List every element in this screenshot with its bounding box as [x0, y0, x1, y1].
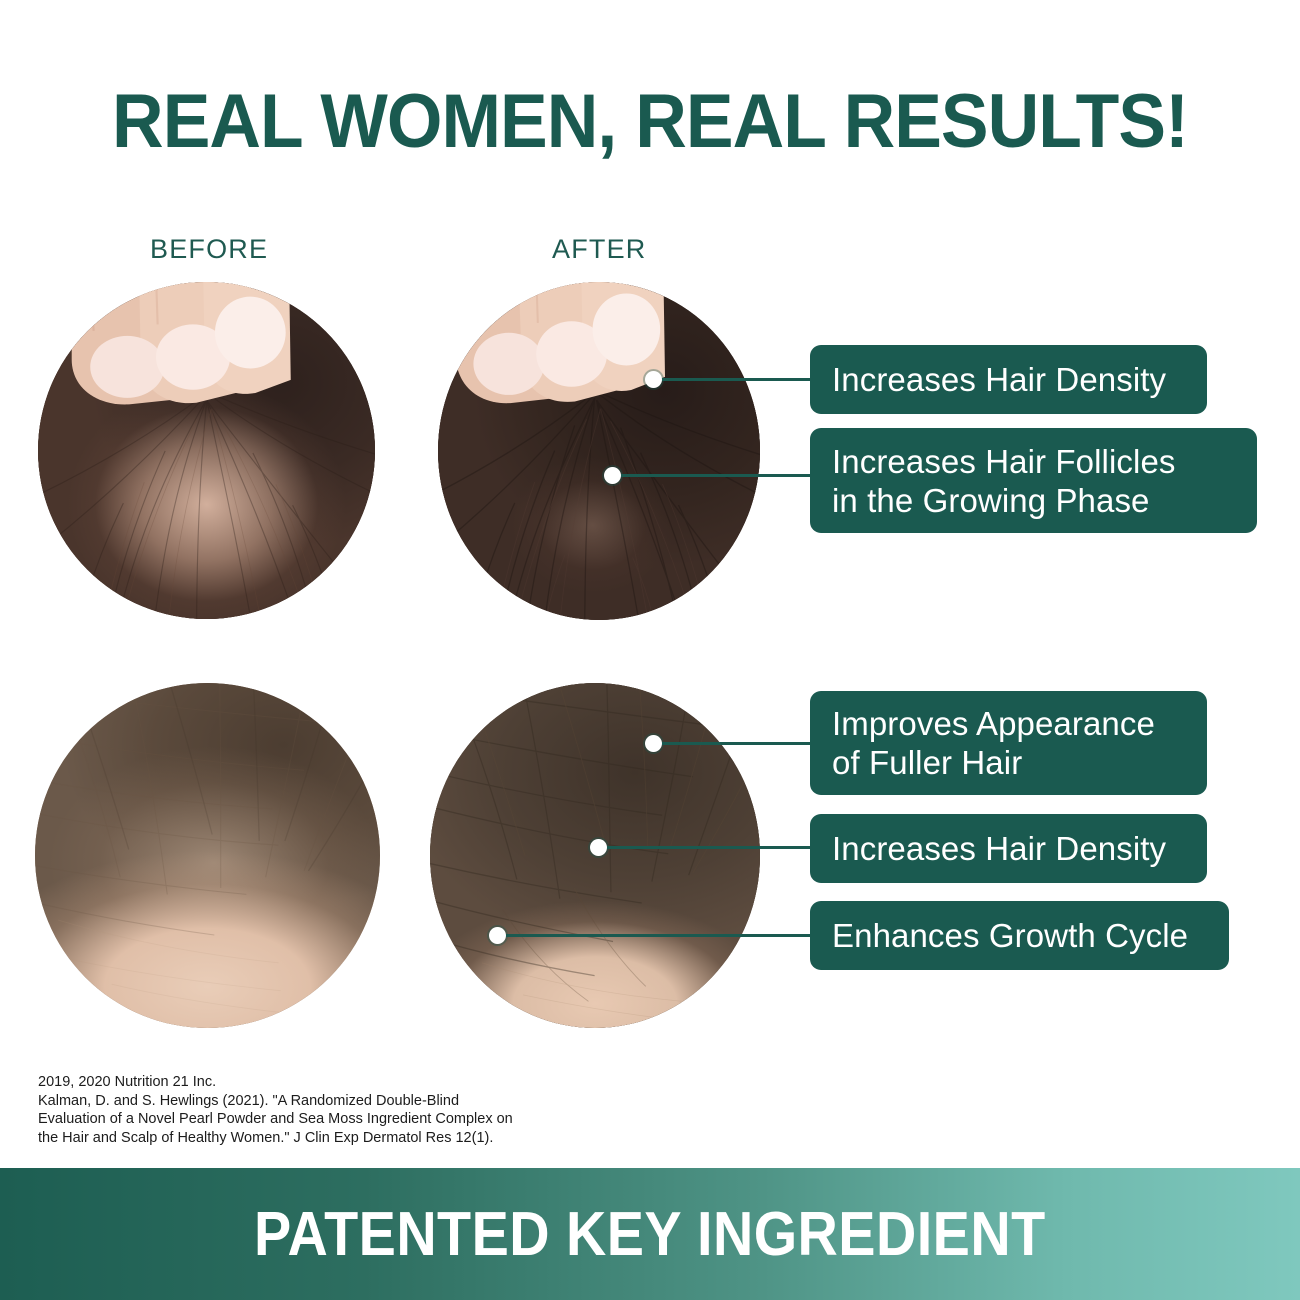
leader-dot-4	[590, 839, 607, 856]
leader-line-4	[601, 846, 812, 849]
leader-dot-1	[645, 371, 662, 388]
callout-improves-appearance-fuller-hair: Improves Appearance of Fuller Hair	[810, 691, 1207, 795]
leader-line-5	[500, 934, 812, 937]
photo-before-top	[38, 282, 375, 619]
leader-dot-2	[604, 467, 621, 484]
callout-line: Increases Hair Density	[832, 829, 1166, 868]
photo-before-bottom	[35, 683, 380, 1028]
leader-line-2	[615, 474, 812, 477]
fingers-overlay	[438, 282, 760, 437]
citation-line-4: the Hair and Scalp of Healthy Women." J …	[38, 1129, 558, 1148]
hair-strand-texture	[35, 683, 380, 1028]
after-column-label: AFTER	[552, 234, 647, 265]
callout-line: in the Growing Phase	[832, 481, 1176, 520]
callout-line: Enhances Growth Cycle	[832, 916, 1188, 955]
callout-increases-hair-follicles: Increases Hair Follicles in the Growing …	[810, 428, 1257, 533]
callout-line: of Fuller Hair	[832, 743, 1155, 782]
citation-block: 2019, 2020 Nutrition 21 Inc. Kalman, D. …	[38, 1073, 558, 1147]
citation-line-2: Kalman, D. and S. Hewlings (2021). "A Ra…	[38, 1092, 558, 1111]
photo-after-top	[438, 282, 760, 620]
page-title: REAL WOMEN, REAL RESULTS!	[39, 78, 1261, 165]
leader-dot-5	[489, 927, 506, 944]
leader-dot-3	[645, 735, 662, 752]
callout-increases-hair-density-bottom: Increases Hair Density	[810, 814, 1207, 883]
callout-enhances-growth-cycle: Enhances Growth Cycle	[810, 901, 1229, 970]
callout-line: Increases Hair Follicles	[832, 442, 1176, 481]
fingers-overlay	[38, 282, 375, 437]
leader-line-3	[656, 742, 812, 745]
citation-line-1: 2019, 2020 Nutrition 21 Inc.	[38, 1073, 558, 1092]
callout-increases-hair-density-top: Increases Hair Density	[810, 345, 1207, 414]
leader-line-1	[656, 378, 812, 381]
callout-line: Improves Appearance	[832, 704, 1155, 743]
callout-line: Increases Hair Density	[832, 360, 1166, 399]
banner-headline: PATENTED KEY INGREDIENT	[254, 1199, 1046, 1270]
citation-line-3: Evaluation of a Novel Pearl Powder and S…	[38, 1110, 558, 1129]
bottom-banner: PATENTED KEY INGREDIENT	[0, 1168, 1300, 1300]
before-column-label: BEFORE	[150, 234, 268, 265]
